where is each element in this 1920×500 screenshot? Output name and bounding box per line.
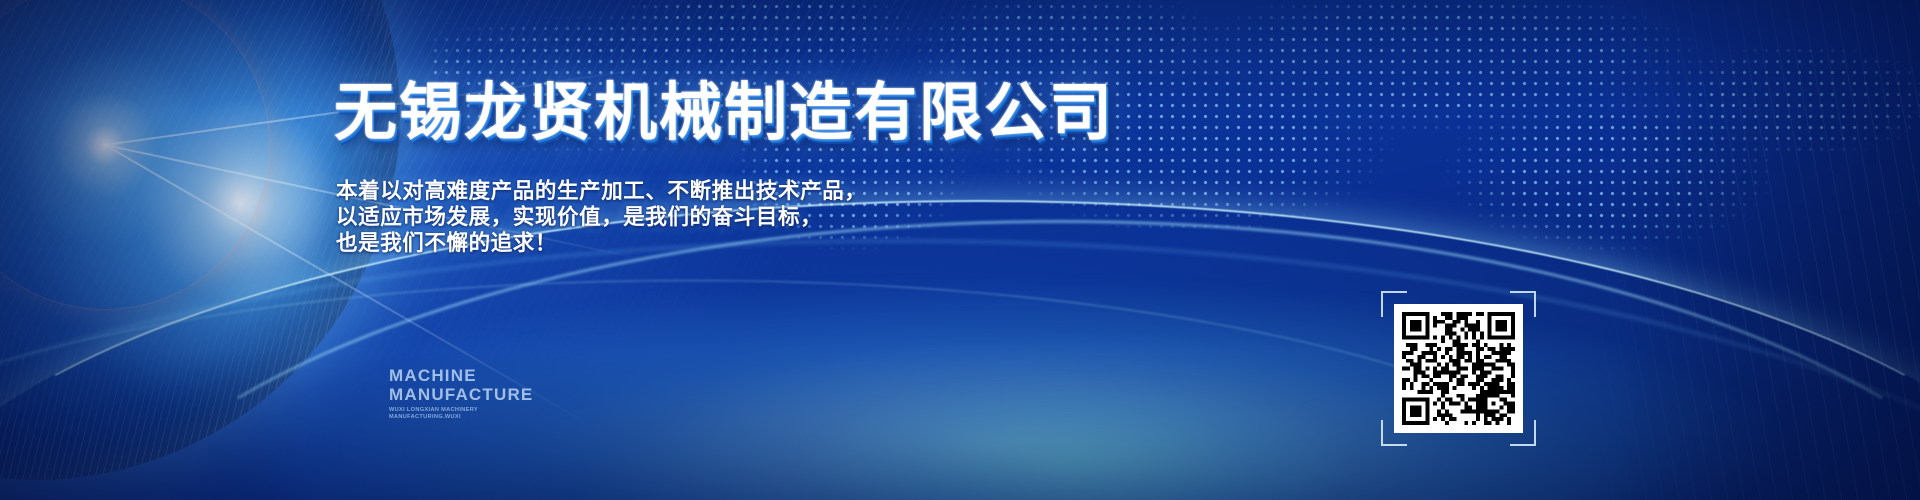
banner-content: 无锡龙贤机械制造有限公司 本着以对高难度产品的生产加工、不断推出技术产品， 以适… [334,0,1434,500]
slogan-line-2: 以适应市场发展，实现价值，是我们的奋斗目标， [336,204,866,230]
logo-caption: WUXI LONGXIAN MACHINERY MANUFACTURING.WU… [389,407,501,421]
qr-code-icon[interactable] [1402,312,1515,425]
slogan-block: 本着以对高难度产品的生产加工、不断推出技术产品， 以适应市场发展，实现价值，是我… [336,178,866,256]
slogan-line-1: 本着以对高难度产品的生产加工、不断推出技术产品， [336,178,866,204]
qr-code-block[interactable] [1381,291,1536,446]
logo-line-manufacture: MANUFACTURE [389,385,539,404]
qr-code-card[interactable] [1394,304,1523,433]
logo-line-machine: MACHINE [389,366,539,385]
company-banner: 无锡龙贤机械制造有限公司 本着以对高难度产品的生产加工、不断推出技术产品， 以适… [0,0,1920,500]
brand-logo: MACHINE MANUFACTURE WUXI LONGXIAN MACHIN… [389,366,539,421]
company-title: 无锡龙贤机械制造有限公司 [334,82,1114,145]
slogan-line-3: 也是我们不懈的追求！ [336,230,866,256]
